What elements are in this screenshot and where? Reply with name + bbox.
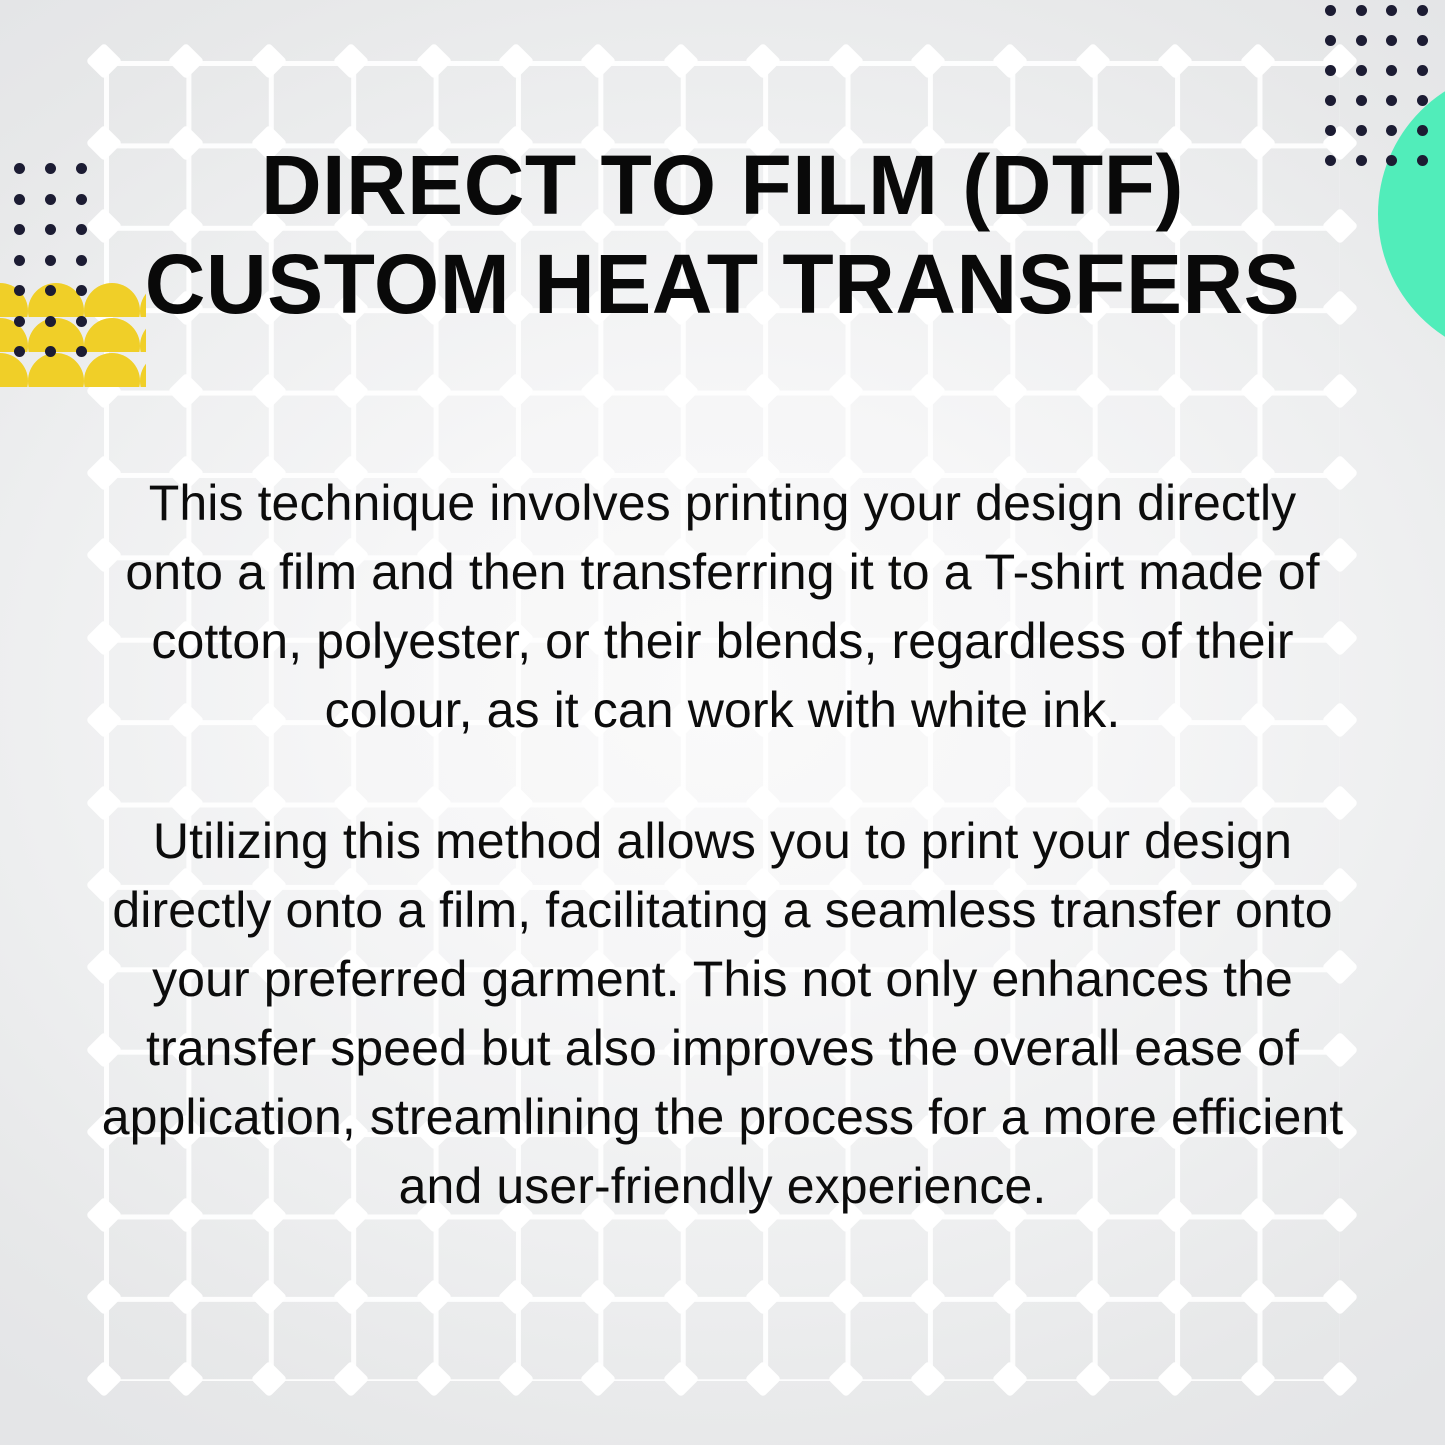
body-paragraph-2: Utilizing this method allows you to prin… xyxy=(89,807,1357,1221)
title-line-2: CUSTOM HEAT TRANSFERS xyxy=(133,235,1313,334)
title-line-1: DIRECT TO FILM (DTF) xyxy=(133,136,1313,235)
content-area: DIRECT TO FILM (DTF) CUSTOM HEAT TRANSFE… xyxy=(0,0,1445,1445)
body-paragraph-1: This technique involves printing your de… xyxy=(100,469,1345,745)
body-text-block: This technique involves printing your de… xyxy=(88,469,1358,1221)
page-title: DIRECT TO FILM (DTF) CUSTOM HEAT TRANSFE… xyxy=(133,136,1313,334)
poster-canvas: DIRECT TO FILM (DTF) CUSTOM HEAT TRANSFE… xyxy=(0,0,1445,1445)
